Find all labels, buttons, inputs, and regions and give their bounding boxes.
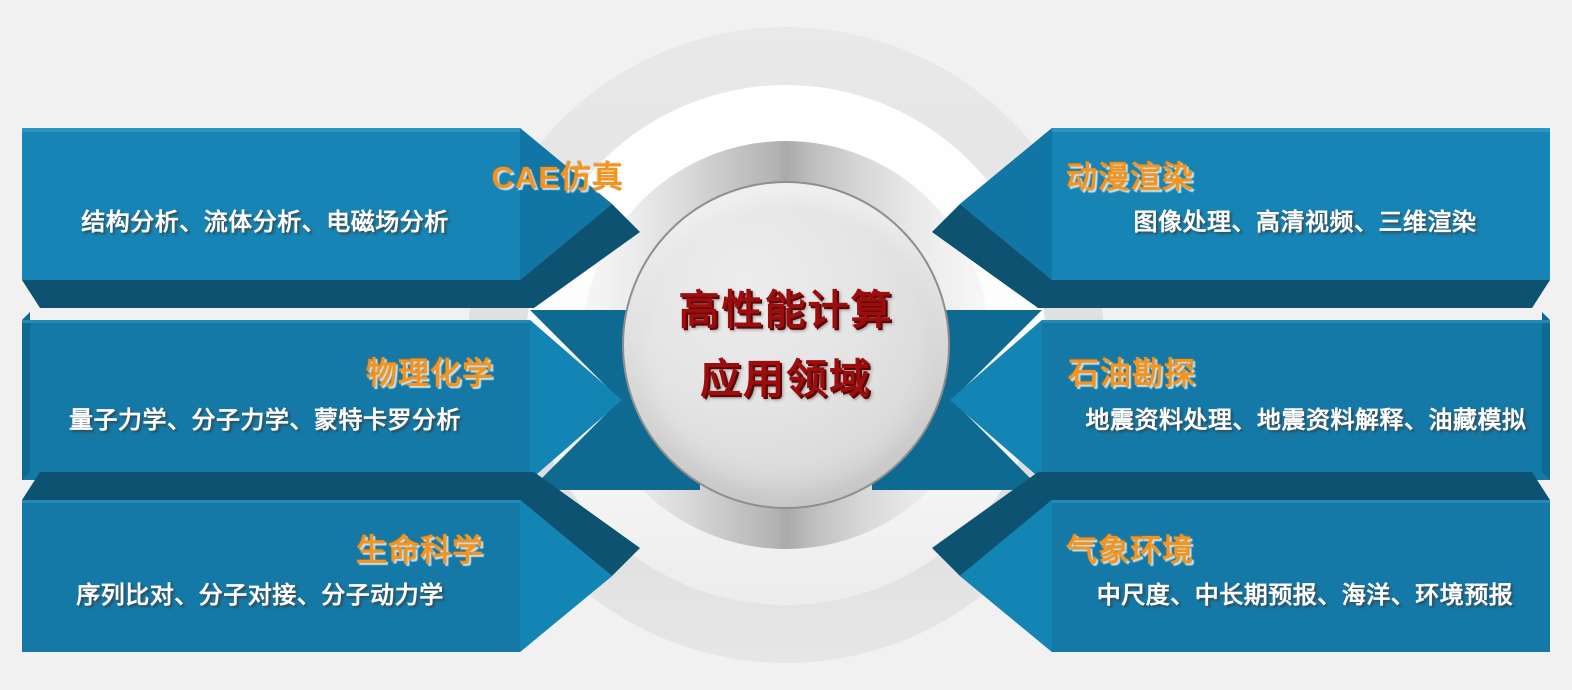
center-title-line-2: 应用领域 bbox=[700, 358, 872, 401]
block-life-science[interactable]: 生命科学 序列比对、分子对接、分子动力学 bbox=[0, 470, 660, 655]
block-subtitle-physical-chemistry: 量子力学、分子力学、蒙特卡罗分析 bbox=[0, 400, 530, 435]
block-cae-simulation[interactable]: CAE仿真 结构分析、流体分析、电磁场分析 bbox=[0, 120, 660, 280]
arrow-shape-cae-simulation bbox=[0, 120, 660, 280]
block-subtitle-oil-exploration: 地震资料处理、地震资料解释、油藏模拟 bbox=[1040, 400, 1572, 435]
center-circle[interactable]: 高性能计算 应用领域 bbox=[622, 181, 950, 509]
block-subtitle-weather-environment: 中尺度、中长期预报、海洋、环境预报 bbox=[1038, 575, 1572, 610]
block-weather-environment[interactable]: 气象环境 中尺度、中长期预报、海洋、环境预报 bbox=[912, 470, 1572, 655]
arrow-shape-animation-rendering bbox=[912, 120, 1572, 280]
block-subtitle-life-science: 序列比对、分子对接、分子动力学 bbox=[0, 575, 520, 610]
block-oil-exploration[interactable]: 石油勘探 地震资料处理、地震资料解释、油藏模拟 bbox=[872, 310, 1572, 490]
block-title-physical-chemistry: 物理化学 bbox=[0, 348, 530, 393]
block-title-weather-environment: 气象环境 bbox=[1038, 525, 1572, 570]
block-title-oil-exploration: 石油勘探 bbox=[1040, 348, 1572, 393]
block-title-cae-simulation: CAE仿真 bbox=[0, 152, 660, 197]
block-subtitle-animation-rendering: 图像处理、高清视频、三维渲染 bbox=[1038, 202, 1572, 237]
block-title-animation-rendering: 动漫渲染 bbox=[1038, 152, 1572, 197]
diagram-canvas: CAE仿真 结构分析、流体分析、电磁场分析 物理化学 量子力学、分子力学、蒙特卡… bbox=[0, 0, 1572, 690]
center-title-line-1: 高性能计算 bbox=[679, 289, 894, 332]
block-physical-chemistry[interactable]: 物理化学 量子力学、分子力学、蒙特卡罗分析 bbox=[0, 310, 700, 490]
block-subtitle-cae-simulation: 结构分析、流体分析、电磁场分析 bbox=[0, 202, 530, 237]
block-title-life-science: 生命科学 bbox=[0, 525, 520, 570]
block-animation-rendering[interactable]: 动漫渲染 图像处理、高清视频、三维渲染 bbox=[912, 120, 1572, 280]
